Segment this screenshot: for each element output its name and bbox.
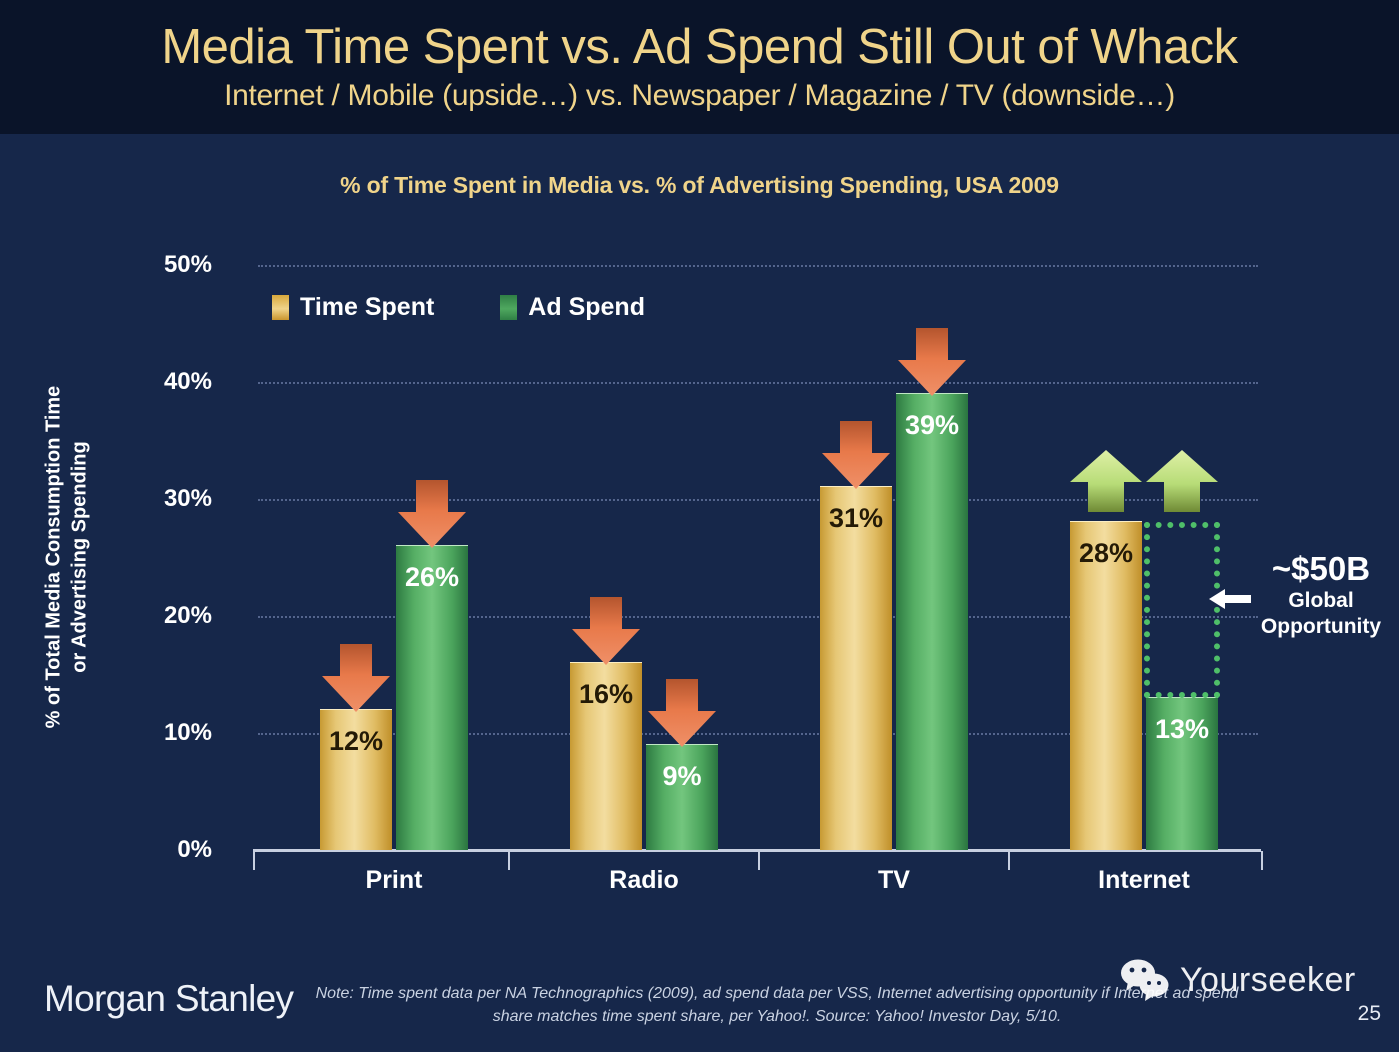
watermark: Yourseeker (1118, 958, 1356, 1002)
down-arrow-icon (568, 595, 644, 669)
bar-value-label: 9% (646, 761, 718, 792)
x-axis-label: Print (294, 866, 494, 895)
company-logo: Morgan Stanley (44, 978, 293, 1020)
opportunity-value: ~$50B (1243, 552, 1399, 587)
x-axis-tick (1008, 851, 1010, 870)
up-arrow-icon (1068, 448, 1144, 514)
wechat-icon (1118, 958, 1174, 1002)
slide-title: Media Time Spent vs. Ad Spend Still Out … (161, 22, 1237, 74)
x-axis-tick (508, 851, 510, 870)
bar-value-label: 16% (570, 679, 642, 710)
bar-value-label: 26% (396, 562, 468, 593)
slide-header: Media Time Spent vs. Ad Spend Still Out … (0, 0, 1399, 134)
bar[interactable]: 12% (320, 709, 392, 850)
bar-value-label: 12% (320, 726, 392, 757)
bar-value-label: 28% (1070, 538, 1142, 569)
x-axis-tick (1261, 851, 1263, 870)
bar[interactable]: 9% (646, 744, 718, 850)
x-axis-tick (758, 851, 760, 870)
down-arrow-icon (894, 326, 970, 400)
bar-group: 12%26% (320, 265, 468, 850)
y-axis-tick-label: 50% (164, 251, 212, 279)
y-axis-tick-label: 20% (164, 602, 212, 630)
source-note: Note: Time spent data per NA Technograph… (312, 982, 1242, 1028)
opportunity-label-line1: Global (1243, 589, 1399, 614)
bar-group: 28%13% (1070, 265, 1218, 850)
y-axis-tick-label: 0% (177, 836, 212, 864)
bar-value-label: 31% (820, 503, 892, 534)
chart-title: % of Time Spent in Media vs. % of Advert… (0, 172, 1399, 199)
bar[interactable]: 28% (1070, 521, 1142, 850)
bar[interactable]: 31% (820, 486, 892, 850)
down-arrow-icon (818, 419, 894, 493)
down-arrow-icon (394, 478, 470, 552)
bar-value-label: 13% (1146, 714, 1218, 745)
chart-plot-area: 12%26%16%9%31%39%28%13% (258, 265, 1258, 850)
down-arrow-icon (318, 642, 394, 716)
opportunity-annotation: ~$50B Global Opportunity (1243, 552, 1399, 640)
down-arrow-icon (644, 677, 720, 751)
bar[interactable]: 26% (396, 545, 468, 850)
x-axis-label: TV (794, 866, 994, 895)
bar-group: 31%39% (820, 265, 968, 850)
y-axis-tick-label: 30% (164, 485, 212, 513)
page-number: 25 (1358, 1002, 1381, 1026)
y-axis-tick-labels: 0%10%20%30%40%50% (0, 265, 240, 850)
source-note-line1: Note: Time spent data per NA Technograph… (316, 985, 1191, 1002)
slide-subtitle: Internet / Mobile (upside…) vs. Newspape… (224, 79, 1175, 112)
y-axis-tick-label: 40% (164, 368, 212, 396)
bar-group: 16%9% (570, 265, 718, 850)
bar[interactable]: 16% (570, 662, 642, 850)
bar[interactable]: 13% (1146, 697, 1218, 850)
up-arrow-icon (1144, 448, 1220, 514)
opportunity-label-line2: Opportunity (1243, 615, 1399, 640)
x-axis-label: Internet (1044, 866, 1244, 895)
watermark-text: Yourseeker (1180, 961, 1356, 1000)
bar[interactable]: 39% (896, 393, 968, 850)
x-axis-tick (253, 851, 255, 870)
bar-value-label: 39% (896, 410, 968, 441)
x-axis-label: Radio (544, 866, 744, 895)
y-axis-tick-label: 10% (164, 719, 212, 747)
